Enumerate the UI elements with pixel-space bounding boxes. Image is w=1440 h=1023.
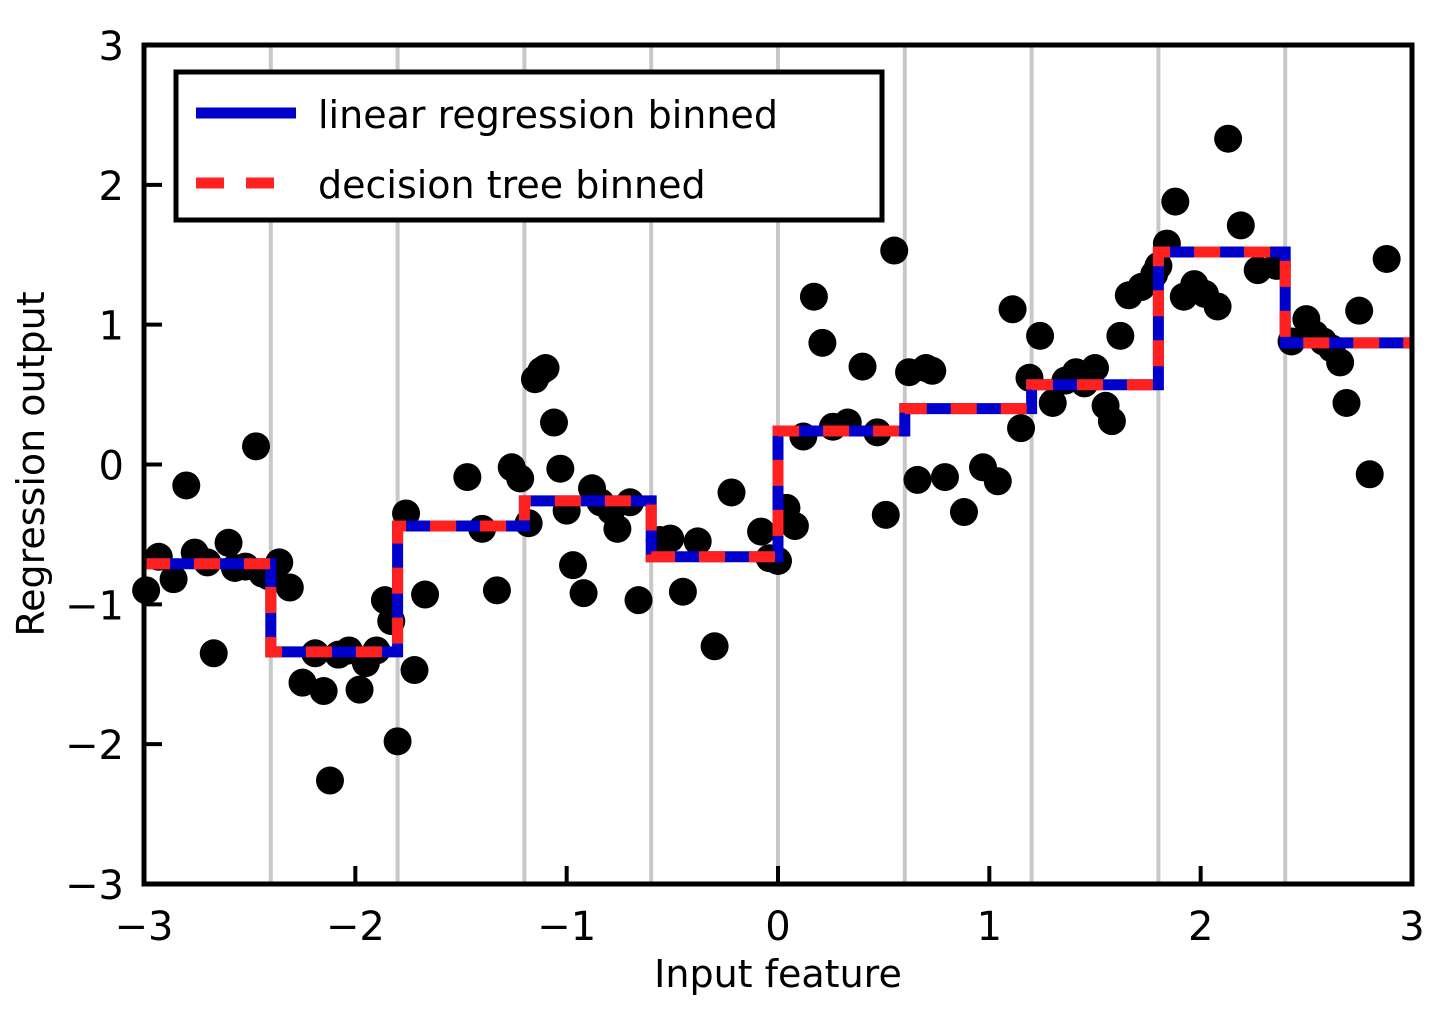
scatter-point: [1161, 188, 1189, 216]
scatter-point: [950, 498, 978, 526]
y-tick-label: 0: [99, 444, 124, 490]
scatter-point: [1106, 322, 1134, 350]
scatter-point: [172, 471, 200, 499]
scatter-point: [984, 467, 1012, 495]
scatter-point: [1373, 245, 1401, 273]
scatter-point: [701, 632, 729, 660]
scatter-point: [411, 581, 439, 609]
scatter-point: [1326, 348, 1354, 376]
scatter-point: [1204, 292, 1232, 320]
scatter-point: [747, 518, 775, 546]
x-tick-label: −2: [326, 904, 385, 950]
scatter-point: [849, 353, 877, 381]
scatter-point: [1081, 354, 1109, 382]
scatter-point: [506, 464, 534, 492]
scatter-point: [808, 329, 836, 357]
scatter-point: [903, 466, 931, 494]
scatter-point: [918, 357, 946, 385]
scatter-point: [1227, 211, 1255, 239]
y-tick-label: −3: [65, 863, 124, 909]
scatter-point: [401, 656, 429, 684]
chart-figure: −3−2−10123 −3−2−10123 Input feature Regr…: [0, 0, 1440, 1023]
scatter-point: [880, 237, 908, 265]
scatter-point: [570, 579, 598, 607]
scatter-point: [1332, 389, 1360, 417]
x-tick-label: 1: [977, 904, 1002, 950]
scatter-point: [1026, 322, 1054, 350]
scatter-point: [1356, 460, 1384, 488]
x-tick-label: −3: [115, 904, 174, 950]
y-tick-label: 2: [99, 164, 124, 210]
scatter-point: [532, 354, 560, 382]
y-axis-title: Regression output: [9, 291, 53, 636]
x-tick-label: 3: [1399, 904, 1424, 950]
scatter-point: [276, 574, 304, 602]
legend-label-linear-regression-binned: linear regression binned: [318, 93, 778, 137]
scatter-point: [559, 551, 587, 579]
scatter-point: [656, 525, 684, 553]
scatter-point: [625, 586, 653, 614]
scatter-point: [384, 727, 412, 755]
scatter-point: [931, 463, 959, 491]
scatter-point: [781, 512, 809, 540]
scatter-point: [1098, 407, 1126, 435]
scatter-point: [1345, 297, 1373, 325]
x-tick-label: 0: [765, 904, 790, 950]
y-tick-label: −2: [65, 723, 124, 769]
regression-binning-chart: −3−2−10123 −3−2−10123 Input feature Regr…: [0, 0, 1440, 1023]
scatter-point: [200, 639, 228, 667]
y-tick-label: 3: [99, 24, 124, 70]
scatter-point: [872, 501, 900, 529]
scatter-point: [603, 515, 631, 543]
scatter-point: [316, 767, 344, 795]
y-tick-label: 1: [99, 304, 124, 350]
scatter-point: [310, 677, 338, 705]
legend-label-decision-tree-binned: decision tree binned: [318, 163, 706, 207]
scatter-point: [215, 529, 243, 557]
scatter-point: [242, 432, 270, 460]
scatter-point: [999, 295, 1027, 323]
x-tick-label: −1: [537, 904, 596, 950]
scatter-point: [1007, 414, 1035, 442]
scatter-point: [453, 463, 481, 491]
scatter-point: [160, 565, 188, 593]
scatter-point: [718, 478, 746, 506]
scatter-point: [546, 455, 574, 483]
scatter-point: [540, 409, 568, 437]
scatter-point: [669, 578, 697, 606]
x-tick-label: 2: [1188, 904, 1213, 950]
scatter-point: [800, 283, 828, 311]
scatter-point: [346, 676, 374, 704]
x-axis-title: Input feature: [654, 952, 902, 996]
scatter-point: [684, 527, 712, 555]
scatter-point: [1214, 125, 1242, 153]
y-tick-label: −1: [65, 583, 124, 629]
chart-legend[interactable]: linear regression binned decision tree b…: [176, 72, 882, 220]
scatter-point: [483, 576, 511, 604]
